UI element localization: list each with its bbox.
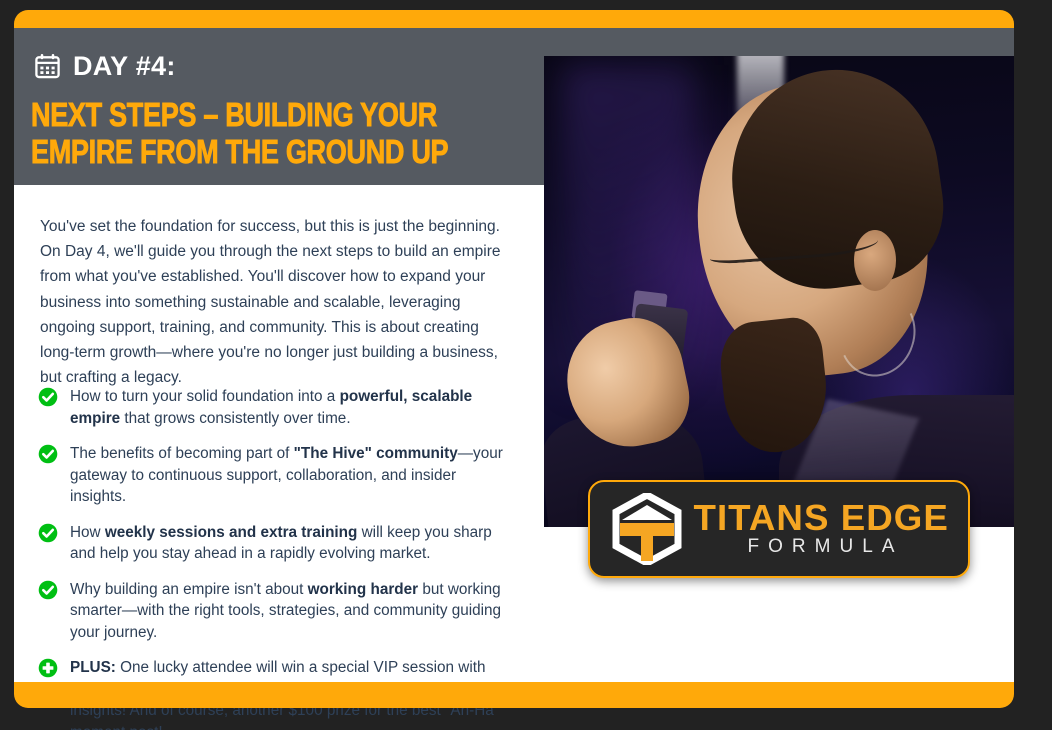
titans-hexagon-t-emblem <box>612 493 682 565</box>
list-item-text: How weekly sessions and extra training w… <box>70 522 516 565</box>
day-label: DAY #4: <box>73 53 176 80</box>
calendar-icon <box>34 52 61 80</box>
list-item: The benefits of becoming part of "The Hi… <box>38 443 516 508</box>
benefits-list: How to turn your solid foundation into a… <box>38 386 516 730</box>
list-item-text: Why building an empire isn't about worki… <box>70 579 516 644</box>
card-bottom-accent-bar <box>14 682 1014 708</box>
list-item-text: The benefits of becoming part of "The Hi… <box>70 443 516 508</box>
check-circle-icon <box>38 580 58 600</box>
list-item-text: How to turn your solid foundation into a… <box>70 386 516 429</box>
intro-paragraph: You've set the foundation for success, b… <box>40 214 512 390</box>
titans-edge-logo-badge: TITANS EDGE FORMULA <box>588 480 970 578</box>
check-circle-icon <box>38 523 58 543</box>
speaker-photo <box>544 56 1014 527</box>
list-item: Why building an empire isn't about worki… <box>38 579 516 644</box>
logo-wordmark: TITANS EDGE FORMULA <box>696 500 946 558</box>
plus-circle-icon <box>38 658 58 678</box>
page-title: Next Steps – Building Your Empire From T… <box>31 96 490 170</box>
list-item: How weekly sessions and extra training w… <box>38 522 516 565</box>
page-root: DAY #4: Next Steps – Building Your Empir… <box>0 0 1052 730</box>
check-circle-icon <box>38 444 58 464</box>
card-top-accent-bar <box>14 10 1014 28</box>
day-row: DAY #4: <box>34 52 176 80</box>
list-item: How to turn your solid foundation into a… <box>38 386 516 429</box>
logo-primary-text: TITANS EDGE <box>693 500 948 536</box>
logo-secondary-text: FORMULA <box>748 536 904 558</box>
check-circle-icon <box>38 387 58 407</box>
